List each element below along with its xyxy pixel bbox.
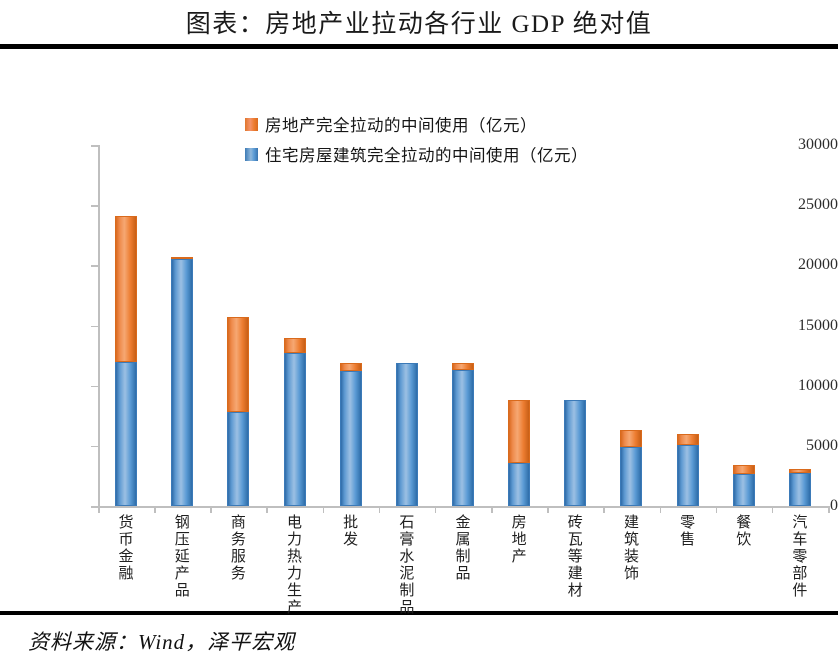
x-axis-label-char: 钢	[175, 515, 190, 532]
x-tick-mark	[266, 506, 268, 513]
plot-area: 房地产完全拉动的中间使用（亿元）住宅房屋建筑完全拉动的中间使用（亿元） 0500…	[0, 49, 838, 609]
x-axis-label-char: 力	[287, 566, 302, 583]
x-axis-label-char: 服	[231, 549, 246, 566]
bar-segment-orange[interactable]	[452, 363, 474, 370]
x-axis-label-char: 品	[175, 583, 190, 600]
x-axis-label-char: 产	[287, 600, 302, 617]
bar-segment-orange[interactable]	[677, 434, 699, 444]
bar-segment-orange[interactable]	[227, 317, 249, 412]
title-area: 图表：房地产业拉动各行业 GDP 绝对值	[0, 0, 838, 44]
x-tick-mark	[772, 506, 774, 513]
x-axis-label-char: 石	[399, 515, 414, 532]
stacked-bar[interactable]	[284, 338, 306, 506]
x-axis-label-char: 延	[175, 549, 190, 566]
stacked-bar[interactable]	[340, 363, 362, 506]
orange-swatch	[245, 118, 258, 131]
x-axis-label-char: 热	[287, 549, 302, 566]
x-axis-label-char: 力	[287, 532, 302, 549]
x-axis-label-char: 务	[231, 566, 246, 583]
stacked-bar[interactable]	[171, 257, 193, 506]
bar-slot	[266, 145, 322, 506]
x-axis-label: 汽车零部件	[792, 515, 807, 600]
bar-slot	[547, 145, 603, 506]
x-axis-label-char: 售	[680, 532, 695, 549]
x-axis-label-char: 金	[119, 549, 134, 566]
x-axis-label: 批发	[343, 515, 358, 549]
bar-segment-blue[interactable]	[789, 473, 811, 506]
x-tick-mark	[435, 506, 437, 513]
bar-slot	[772, 145, 828, 506]
bar-slot	[379, 145, 435, 506]
x-axis-label: 餐饮	[736, 515, 751, 549]
x-axis-label: 零售	[680, 515, 695, 549]
x-axis-label: 建筑装饰	[624, 515, 639, 583]
x-tick-mark	[323, 506, 325, 513]
y-tick-mark	[91, 446, 98, 448]
chart-page: 图表：房地产业拉动各行业 GDP 绝对值 房地产完全拉动的中间使用（亿元）住宅房…	[0, 0, 838, 667]
y-tick-mark	[91, 386, 98, 388]
x-axis-label: 商务服务	[231, 515, 246, 583]
x-tick-mark	[491, 506, 493, 513]
stacked-bar[interactable]	[508, 400, 530, 506]
x-axis-label-char: 批	[343, 515, 358, 532]
bar-slot	[435, 145, 491, 506]
x-tick-mark	[547, 506, 549, 513]
x-axis-label-char: 发	[343, 532, 358, 549]
x-tick-mark	[379, 506, 381, 513]
x-tick-mark	[828, 506, 830, 513]
x-axis-label-char: 筑	[624, 532, 639, 549]
x-axis-label-char: 材	[568, 583, 583, 600]
chart-container: 房地产完全拉动的中间使用（亿元）住宅房屋建筑完全拉动的中间使用（亿元） 0500…	[0, 49, 838, 611]
bar-slot	[98, 145, 154, 506]
x-axis-label-char: 务	[231, 532, 246, 549]
x-axis-line	[98, 506, 828, 508]
x-axis-label-char: 装	[624, 549, 639, 566]
stacked-bar[interactable]	[677, 434, 699, 506]
y-tick-mark	[91, 145, 98, 147]
bar-slot	[660, 145, 716, 506]
x-axis-label: 房地产	[512, 515, 527, 566]
x-axis-label: 货币金融	[119, 515, 134, 583]
bar-segment-blue[interactable]	[396, 363, 418, 506]
x-axis-label-char: 房	[512, 515, 527, 532]
x-axis-label-char: 品	[455, 566, 470, 583]
bar-segment-blue[interactable]	[452, 370, 474, 506]
bar-segment-orange[interactable]	[733, 465, 755, 475]
x-axis-label-char: 融	[119, 566, 134, 583]
x-axis-label-char: 制	[399, 583, 414, 600]
page-title: 图表：房地产业拉动各行业 GDP 绝对值	[186, 4, 653, 40]
x-axis-label-char: 货	[119, 515, 134, 532]
x-axis-label: 砖瓦等建材	[568, 515, 583, 600]
stacked-bar[interactable]	[115, 216, 137, 506]
bar-slot	[154, 145, 210, 506]
bar-segment-blue[interactable]	[227, 412, 249, 506]
x-axis-label-char: 等	[568, 549, 583, 566]
bar-slot	[491, 145, 547, 506]
x-axis-label-char: 水	[399, 549, 414, 566]
legend-label: 房地产完全拉动的中间使用（亿元）	[265, 112, 537, 136]
stacked-bar[interactable]	[227, 317, 249, 506]
x-axis-label: 金属制品	[455, 515, 470, 583]
bar-segment-orange[interactable]	[508, 400, 530, 463]
stacked-bar[interactable]	[789, 469, 811, 506]
stacked-bar[interactable]	[396, 363, 418, 506]
y-tick-mark	[91, 506, 98, 508]
x-axis-label-char: 部	[792, 566, 807, 583]
x-axis-label-char: 砖	[568, 515, 583, 532]
x-axis-label-char: 制	[455, 549, 470, 566]
bar-segment-orange[interactable]	[284, 338, 306, 354]
x-axis-label-char: 件	[792, 583, 807, 600]
legend-item[interactable]: 房地产完全拉动的中间使用（亿元）	[245, 112, 588, 136]
x-axis-label: 电力热力生产	[287, 515, 302, 617]
bars-layer	[98, 145, 828, 506]
bar-segment-blue[interactable]	[115, 362, 137, 506]
x-axis-label: 石膏水泥制品	[399, 515, 414, 617]
bar-slot	[716, 145, 772, 506]
stacked-bar[interactable]	[564, 400, 586, 506]
y-tick-mark	[91, 326, 98, 328]
bar-segment-blue[interactable]	[677, 445, 699, 506]
x-axis-label-char: 饰	[624, 566, 639, 583]
stacked-bar[interactable]	[733, 465, 755, 507]
bar-segment-blue[interactable]	[620, 447, 642, 506]
bar-segment-blue[interactable]	[564, 400, 586, 506]
y-tick-mark	[91, 265, 98, 267]
bar-segment-blue[interactable]	[284, 353, 306, 506]
y-tick-mark	[91, 205, 98, 207]
x-axis-label-char: 品	[399, 600, 414, 617]
x-axis-label-char: 汽	[792, 515, 807, 532]
x-axis-label-char: 餐	[736, 515, 751, 532]
x-axis-label-char: 地	[512, 532, 527, 549]
x-tick-mark	[716, 506, 718, 513]
x-axis-label-char: 商	[231, 515, 246, 532]
bar-segment-blue[interactable]	[508, 463, 530, 506]
x-tick-mark	[660, 506, 662, 513]
x-tick-mark	[603, 506, 605, 513]
x-tick-mark	[154, 506, 156, 513]
x-axis-label-char: 产	[175, 566, 190, 583]
bar-slot	[603, 145, 659, 506]
x-axis-label-char: 金	[455, 515, 470, 532]
x-axis-label-char: 泥	[399, 566, 414, 583]
bar-segment-orange[interactable]	[340, 363, 362, 371]
x-axis-label-char: 生	[287, 583, 302, 600]
x-axis-labels: 货币金融钢压延产品商务服务电力热力生产批发石膏水泥制品金属制品房地产砖瓦等建材建…	[98, 515, 828, 635]
bar-segment-blue[interactable]	[733, 474, 755, 506]
bar-segment-orange[interactable]	[115, 216, 137, 362]
stacked-bar[interactable]	[620, 430, 642, 506]
x-axis-label-char: 币	[119, 532, 134, 549]
x-axis-label-char: 饮	[736, 532, 751, 549]
x-axis-label-char: 属	[455, 532, 470, 549]
x-axis-label-char: 电	[287, 515, 302, 532]
bar-slot	[323, 145, 379, 506]
bar-segment-orange[interactable]	[620, 430, 642, 447]
x-tick-mark	[210, 506, 212, 513]
bar-segment-blue[interactable]	[340, 371, 362, 506]
x-axis-label-char: 零	[792, 549, 807, 566]
bar-segment-blue[interactable]	[171, 259, 193, 506]
x-axis-label-char: 车	[792, 532, 807, 549]
x-axis-label-char: 瓦	[568, 532, 583, 549]
x-axis-label-char: 建	[624, 515, 639, 532]
bar-slot	[210, 145, 266, 506]
x-axis-label-char: 建	[568, 566, 583, 583]
x-axis-label-char: 压	[175, 532, 190, 549]
x-axis-label-char: 膏	[399, 532, 414, 549]
x-axis-label-char: 产	[512, 549, 527, 566]
stacked-bar[interactable]	[452, 363, 474, 506]
x-axis-label: 钢压延产品	[175, 515, 190, 600]
x-tick-mark	[98, 506, 100, 513]
x-axis-label-char: 零	[680, 515, 695, 532]
